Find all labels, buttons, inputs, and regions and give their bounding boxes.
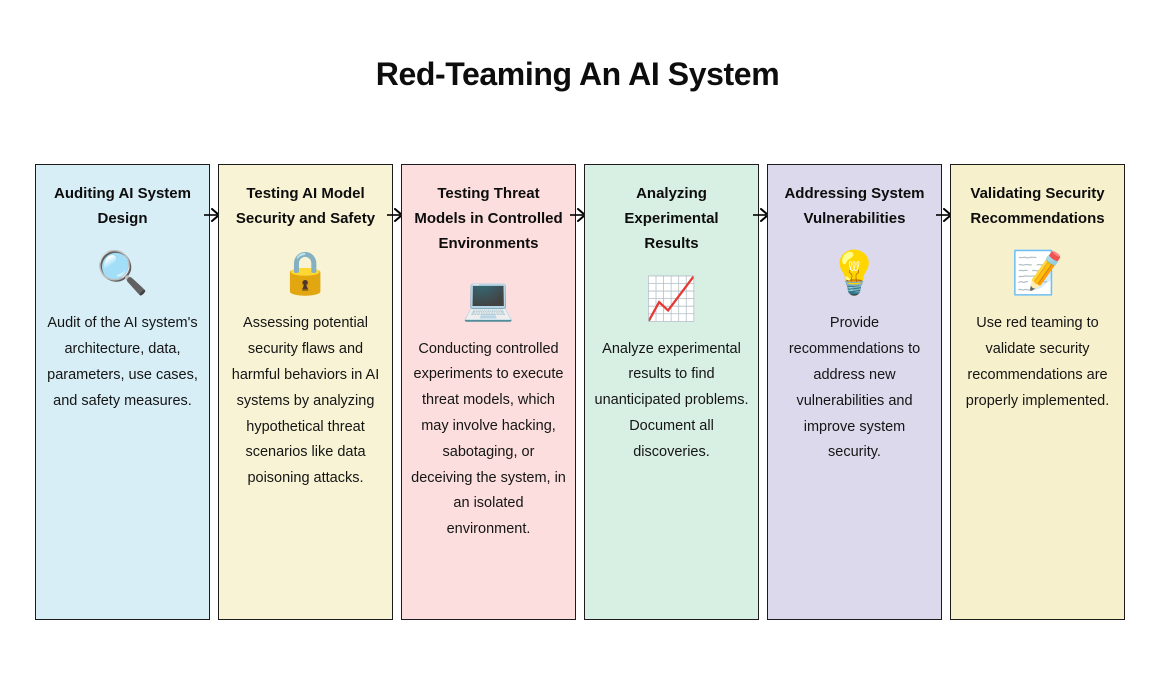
flow-connector bbox=[576, 164, 584, 620]
card-title: Analyzing Experimental Results bbox=[596, 181, 748, 257]
chart-increasing-icon: 📈 bbox=[645, 271, 697, 327]
magnifying-glass-icon: 🔍 bbox=[96, 245, 148, 301]
process-flow: Auditing AI System Design 🔍 Audit of the… bbox=[35, 164, 1120, 620]
infographic-page: Red-Teaming An AI System Auditing AI Sys… bbox=[0, 0, 1155, 680]
flow-connector bbox=[942, 164, 950, 620]
card-title: Testing Threat Models in Controlled Envi… bbox=[413, 181, 565, 257]
laptop-icon: 💻 bbox=[462, 271, 514, 327]
flow-step-card[interactable]: Auditing AI System Design 🔍 Audit of the… bbox=[35, 164, 210, 620]
card-body: Provide recommendations to address new v… bbox=[777, 311, 933, 466]
flow-step-card[interactable]: Testing AI Model Security and Safety 🔒 A… bbox=[218, 164, 393, 620]
flow-step-card[interactable]: Analyzing Experimental Results 📈 Analyze… bbox=[584, 164, 759, 620]
card-body: Analyze experimental results to find una… bbox=[594, 337, 750, 466]
flow-connector bbox=[393, 164, 401, 620]
flow-step-card[interactable]: Testing Threat Models in Controlled Envi… bbox=[401, 164, 576, 620]
flow-step-card[interactable]: Validating Security Recommendations 📝 Us… bbox=[950, 164, 1125, 620]
card-title: Auditing AI System Design bbox=[47, 181, 199, 231]
card-title: Addressing System Vulnerabilities bbox=[779, 181, 931, 231]
flow-connector bbox=[759, 164, 767, 620]
light-bulb-icon: 💡 bbox=[828, 245, 880, 301]
flow-connector bbox=[210, 164, 218, 620]
page-title: Red-Teaming An AI System bbox=[0, 56, 1155, 93]
card-title: Validating Security Recommendations bbox=[962, 181, 1114, 231]
card-body: Assessing potential security flaws and h… bbox=[228, 311, 384, 492]
card-title: Testing AI Model Security and Safety bbox=[230, 181, 382, 231]
flow-step-card[interactable]: Addressing System Vulnerabilities 💡 Prov… bbox=[767, 164, 942, 620]
memo-icon: 📝 bbox=[1011, 245, 1063, 301]
card-body: Audit of the AI system's architecture, d… bbox=[45, 311, 201, 414]
card-body: Conducting controlled experiments to exe… bbox=[411, 337, 567, 543]
card-body: Use red teaming to validate security rec… bbox=[960, 311, 1116, 414]
padlock-icon: 🔒 bbox=[279, 245, 331, 301]
